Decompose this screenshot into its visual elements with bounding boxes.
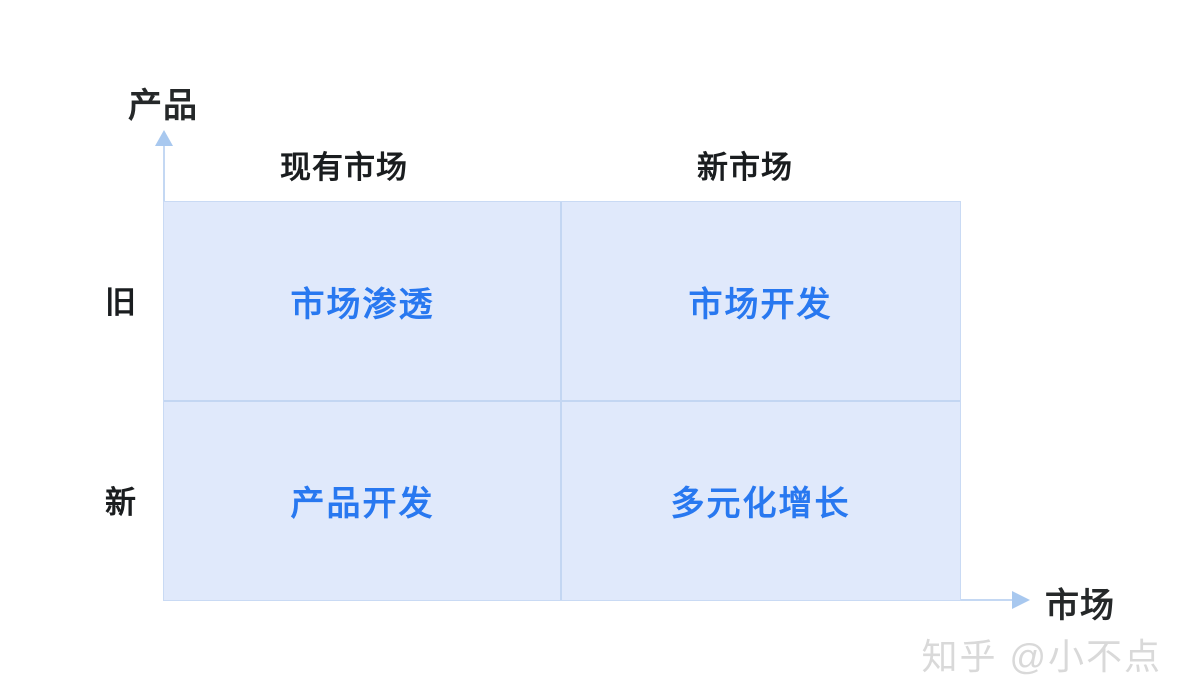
column-header-new-market: 新市场 (697, 142, 793, 187)
matrix-cell-label: 市场开发 (689, 277, 833, 326)
row-label-old: 旧 (105, 277, 137, 322)
y-axis-arrow-icon (155, 130, 173, 146)
matrix-cell-diversification[interactable]: 多元化增长 (561, 401, 960, 600)
x-axis-arrow-icon (1012, 591, 1030, 609)
column-header-existing-market: 现有市场 (280, 142, 408, 187)
diagram-canvas: 产品 市场 现有市场 新市场 旧 新 市场渗透 市场开发 产品开发 多元化增长 … (0, 0, 1182, 696)
x-axis-title: 市场 (1045, 578, 1115, 627)
row-label-new: 新 (105, 477, 137, 522)
matrix-cell-market-development[interactable]: 市场开发 (561, 202, 960, 401)
matrix-horizontal-divider (164, 400, 960, 402)
matrix-cell-product-development[interactable]: 产品开发 (164, 401, 561, 600)
matrix-cell-label: 市场渗透 (291, 277, 435, 326)
y-axis-title: 产品 (128, 78, 198, 127)
matrix-cell-label: 产品开发 (291, 476, 435, 525)
watermark: 知乎 @小不点 (921, 628, 1162, 680)
matrix-cell-label: 多元化增长 (671, 476, 851, 525)
matrix-cell-market-penetration[interactable]: 市场渗透 (164, 202, 561, 401)
